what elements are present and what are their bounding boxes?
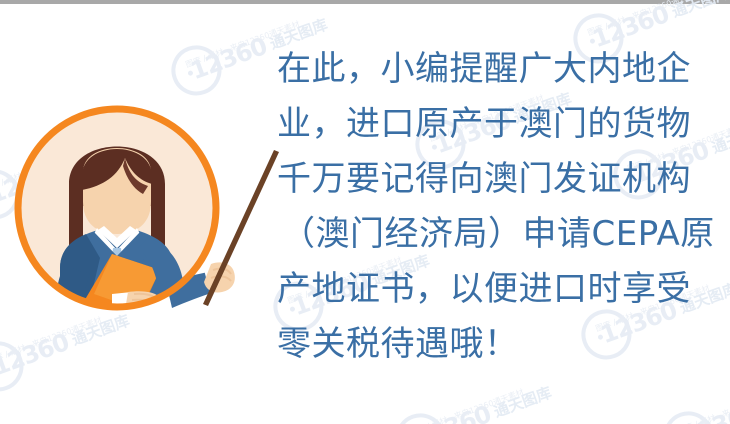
teacher-illustration	[8, 96, 280, 326]
watermark: 12360通天图库图库 / 素材 · 来自12360通天素材	[660, 392, 730, 424]
teacher-illustration-svg	[8, 96, 280, 326]
text-line-5: 产地证书，以便进口时享受	[277, 262, 725, 317]
message-text-block: 在此，小编提醒广大内地企 业，进口原产于澳门的货物 千万要记得向澳门发证机构 （…	[277, 42, 725, 372]
watermark-brand-subtitle: 图库 / 素材 · 来自12360通天素材	[676, 385, 730, 424]
poster-canvas: 12360通天图库图库 / 素材 · 来自12360通天素材12360通天图库图…	[0, 0, 730, 424]
watermark-ring-icon	[164, 38, 228, 102]
watermark-ring-icon	[388, 406, 452, 424]
watermark: 12360通天图库图库 / 素材 · 来自12360通天素材	[392, 394, 556, 424]
watermark-brand-name: 通天图库	[491, 381, 555, 421]
watermark-ring-icon	[656, 404, 720, 424]
text-line-6: 零关税待遇哦！	[277, 317, 725, 372]
top-gray-bar	[0, 0, 730, 4]
watermark-ring-icon	[0, 334, 30, 398]
text-line-3: 千万要记得向澳门发证机构	[277, 152, 725, 207]
text-line-4: （澳门经济局）申请CEPA原	[277, 207, 725, 262]
watermark-brand-number: 12360	[411, 400, 494, 424]
watermark: 12360通天图库图库 / 素材 · 来自12360通天素材	[0, 322, 134, 372]
watermark-brand-subtitle: 图库 / 素材 · 来自12360通天素材	[408, 387, 525, 424]
watermark-brand-number: 12360	[187, 32, 270, 85]
watermark-brand-subtitle: 图库 / 素材 · 来自12360通天素材	[586, 0, 703, 38]
text-line-2: 业，进口原产于澳门的货物	[277, 97, 725, 152]
watermark-brand-number: 12360	[679, 398, 730, 424]
text-line-1: 在此，小编提醒广大内地企	[277, 42, 725, 97]
watermark-brand-number: 12360	[0, 328, 72, 381]
watermark: 12360通天图库图库 / 素材 · 来自12360通天素材	[570, 0, 730, 44]
